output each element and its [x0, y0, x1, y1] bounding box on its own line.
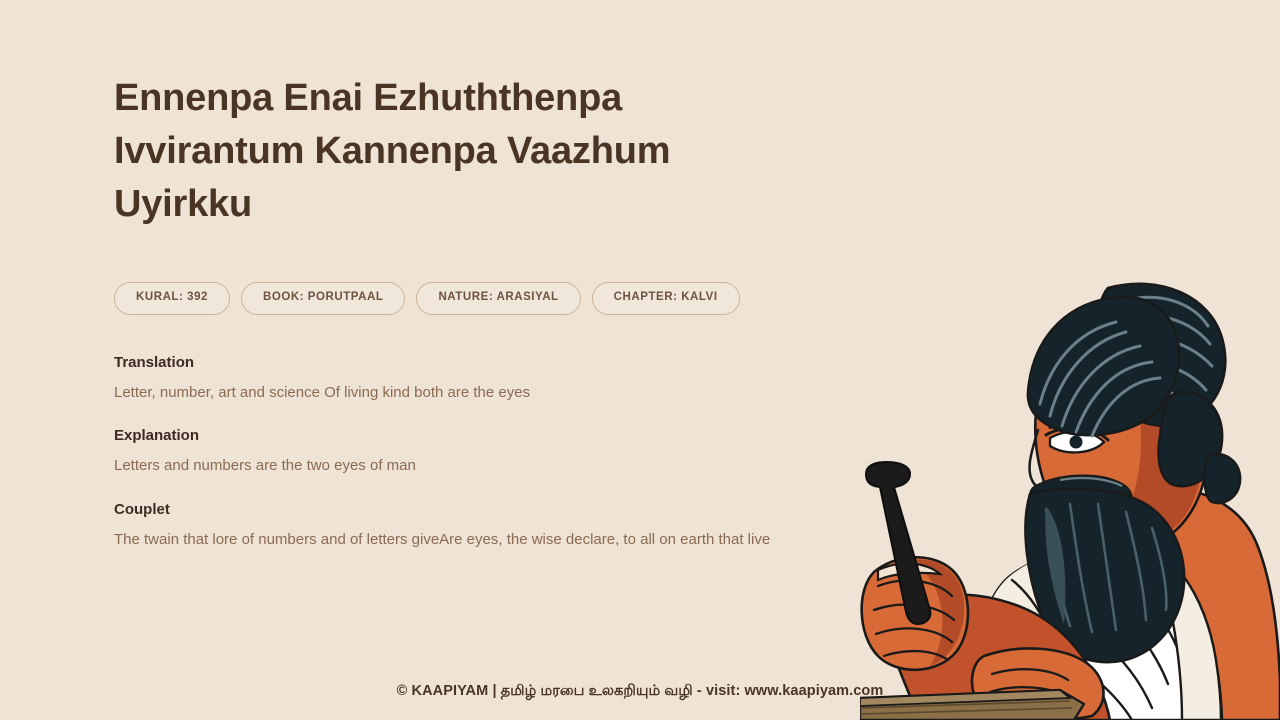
kural-sections: Translation Letter, number, art and scie…	[114, 354, 874, 551]
sage-face	[1035, 335, 1207, 550]
badge-kural-number[interactable]: KURAL: 392	[114, 282, 230, 315]
kural-card: Ennenpa Enai Ezhuththenpa Ivvirantum Kan…	[0, 0, 1280, 720]
badge-book[interactable]: BOOK: PORUTPAAL	[241, 282, 405, 315]
hair-front-strands	[1040, 322, 1160, 436]
thumb-nail	[878, 564, 940, 580]
explanation-text: Letters and numbers are the two eyes of …	[114, 456, 874, 476]
sage-eye	[1050, 432, 1104, 453]
face-shadow	[1108, 342, 1205, 544]
footer-credit: © KAAPIYAM | தமிழ் மரபை உலகறியும் வழி - …	[0, 683, 1280, 701]
left-hand-fingers	[874, 581, 954, 660]
badge-nature[interactable]: NATURE: ARASIYAL	[416, 282, 580, 315]
kural-content: Ennenpa Enai Ezhuththenpa Ivvirantum Kan…	[114, 72, 874, 550]
ear-inner	[1190, 438, 1198, 464]
section-couplet: Couplet The twain that lore of numbers a…	[114, 501, 874, 550]
sage-left-forearm	[882, 594, 1110, 720]
sage-ear	[1175, 425, 1209, 481]
sage-pupil	[1070, 436, 1083, 449]
sage-topknot	[1097, 284, 1226, 426]
stylus-pen	[866, 462, 930, 624]
translation-text: Letter, number, art and science Of livin…	[114, 383, 874, 403]
sage-beard	[1025, 489, 1184, 662]
hair-wisp	[1205, 454, 1241, 503]
left-hand-shadow	[912, 559, 964, 666]
sage-hair-nape	[1159, 392, 1223, 486]
sage-nose	[1030, 430, 1058, 489]
sage-neck	[1086, 474, 1161, 561]
page-title: Ennenpa Enai Ezhuththenpa Ivvirantum Kan…	[114, 72, 814, 231]
beard-strands	[1046, 504, 1166, 632]
moustache-highlight	[1060, 478, 1122, 486]
topknot-strands	[1106, 297, 1212, 410]
beard-left-highlight	[1045, 506, 1065, 624]
explanation-heading: Explanation	[114, 427, 874, 445]
metadata-badges: KURAL: 392 BOOK: PORUTPAAL NATURE: ARASI…	[114, 282, 874, 315]
translation-heading: Translation	[114, 354, 874, 372]
sage-hair-front	[1028, 297, 1179, 435]
couplet-heading: Couplet	[114, 501, 874, 519]
sage-eyebrow	[1046, 406, 1114, 428]
couplet-text: The twain that lore of numbers and of le…	[114, 530, 874, 550]
eye-lid	[1046, 428, 1108, 440]
section-translation: Translation Letter, number, art and scie…	[114, 354, 874, 403]
sage-moustache	[1030, 476, 1131, 506]
badge-chapter[interactable]: CHAPTER: KALVI	[592, 282, 740, 315]
thiruvalluvar-illustration	[860, 280, 1280, 720]
sage-left-hand	[862, 557, 968, 670]
section-explanation: Explanation Letters and numbers are the …	[114, 427, 874, 476]
